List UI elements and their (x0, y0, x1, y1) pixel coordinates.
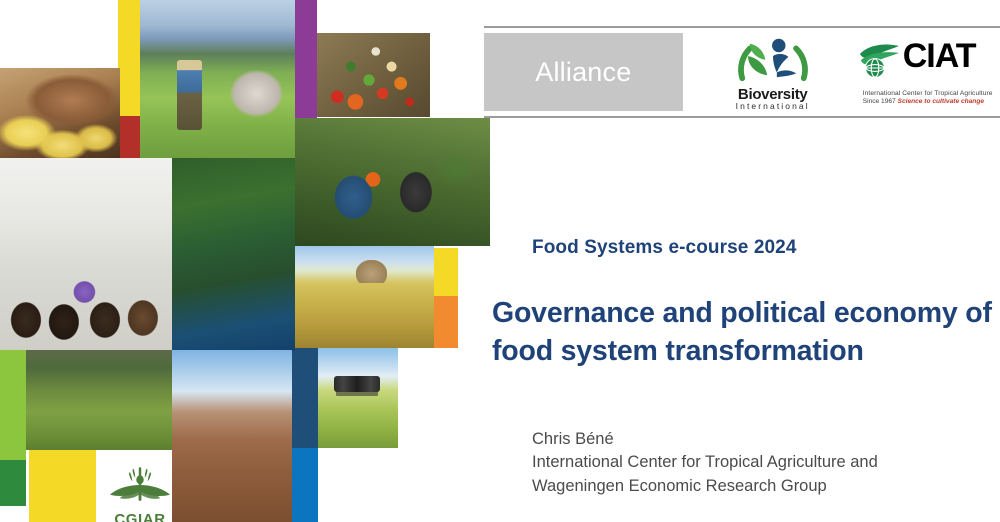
ciat-leaf-globe-icon (857, 40, 903, 80)
header-rule-top (484, 26, 1000, 28)
bioversity-logo: Bioversity International (711, 33, 835, 111)
alliance-label: Alliance (535, 57, 631, 88)
color-bar-orange-right (434, 296, 458, 348)
header-rule-bottom (484, 116, 1000, 118)
bioversity-name: Bioversity (711, 87, 835, 102)
ciat-tagline: Science to cultivate change (898, 98, 984, 105)
photo-farmer-kneeling-in-soil (172, 350, 292, 522)
photo-scientist-in-laboratory (0, 158, 172, 350)
color-bar-blue (292, 448, 318, 522)
ciat-logo: CIAT International Center for Tropical A… (857, 37, 1000, 107)
color-bar-navy (292, 348, 318, 448)
color-bar-dark-green (0, 460, 26, 506)
ciat-tagline-line2: Since 1967 Science to cultivate change (863, 98, 984, 105)
alliance-logo-box: Alliance (484, 33, 683, 111)
photo-collage: CGIAR (0, 0, 512, 522)
cgiar-wheat-icon (100, 462, 180, 508)
photo-andean-woman-in-quinoa-field (295, 246, 434, 348)
photo-aerial-river-and-forest (172, 158, 295, 351)
cgiar-logo: CGIAR (100, 462, 180, 522)
color-bar-purple (295, 0, 317, 118)
author-affiliation-line2: Wageningen Economic Research Group (532, 475, 878, 498)
logo-header: Alliance Bioversity International (484, 26, 1000, 28)
color-bar-yellow-top-left (118, 0, 140, 116)
photo-agricultural-drone-over-rice (318, 348, 398, 448)
title-slide: CGIAR Alliance (0, 0, 1000, 522)
bioversity-leaf-figure-icon (711, 33, 835, 83)
color-bar-light-green (0, 350, 26, 460)
cgiar-label: CGIAR (100, 511, 180, 522)
photo-woman-at-vegetable-market (26, 350, 172, 450)
author-block: Chris Béné International Center for Trop… (532, 428, 878, 498)
photo-herder-with-cattle-in-field (140, 0, 295, 158)
ciat-since: Since 1967 (863, 98, 896, 105)
page-title: Governance and political economy of food… (492, 295, 1000, 370)
color-bar-yellow-right (434, 248, 458, 296)
ciat-tagline-line1: International Center for Tropical Agricu… (863, 90, 993, 97)
photo-farmer-field-training-group (295, 118, 490, 246)
course-eyebrow: Food Systems e-course 2024 (532, 237, 797, 259)
ciat-name: CIAT (903, 39, 976, 73)
author-affiliation-line1: International Center for Tropical Agricu… (532, 451, 878, 474)
photo-assorted-vegetables-flatlay (317, 33, 430, 117)
photo-bananas-region (0, 68, 120, 158)
bioversity-subtitle: International (711, 101, 835, 111)
author-name: Chris Béné (532, 428, 878, 451)
content-panel: Alliance Bioversity International (512, 0, 1000, 522)
color-bar-yellow-bottom (29, 450, 96, 522)
